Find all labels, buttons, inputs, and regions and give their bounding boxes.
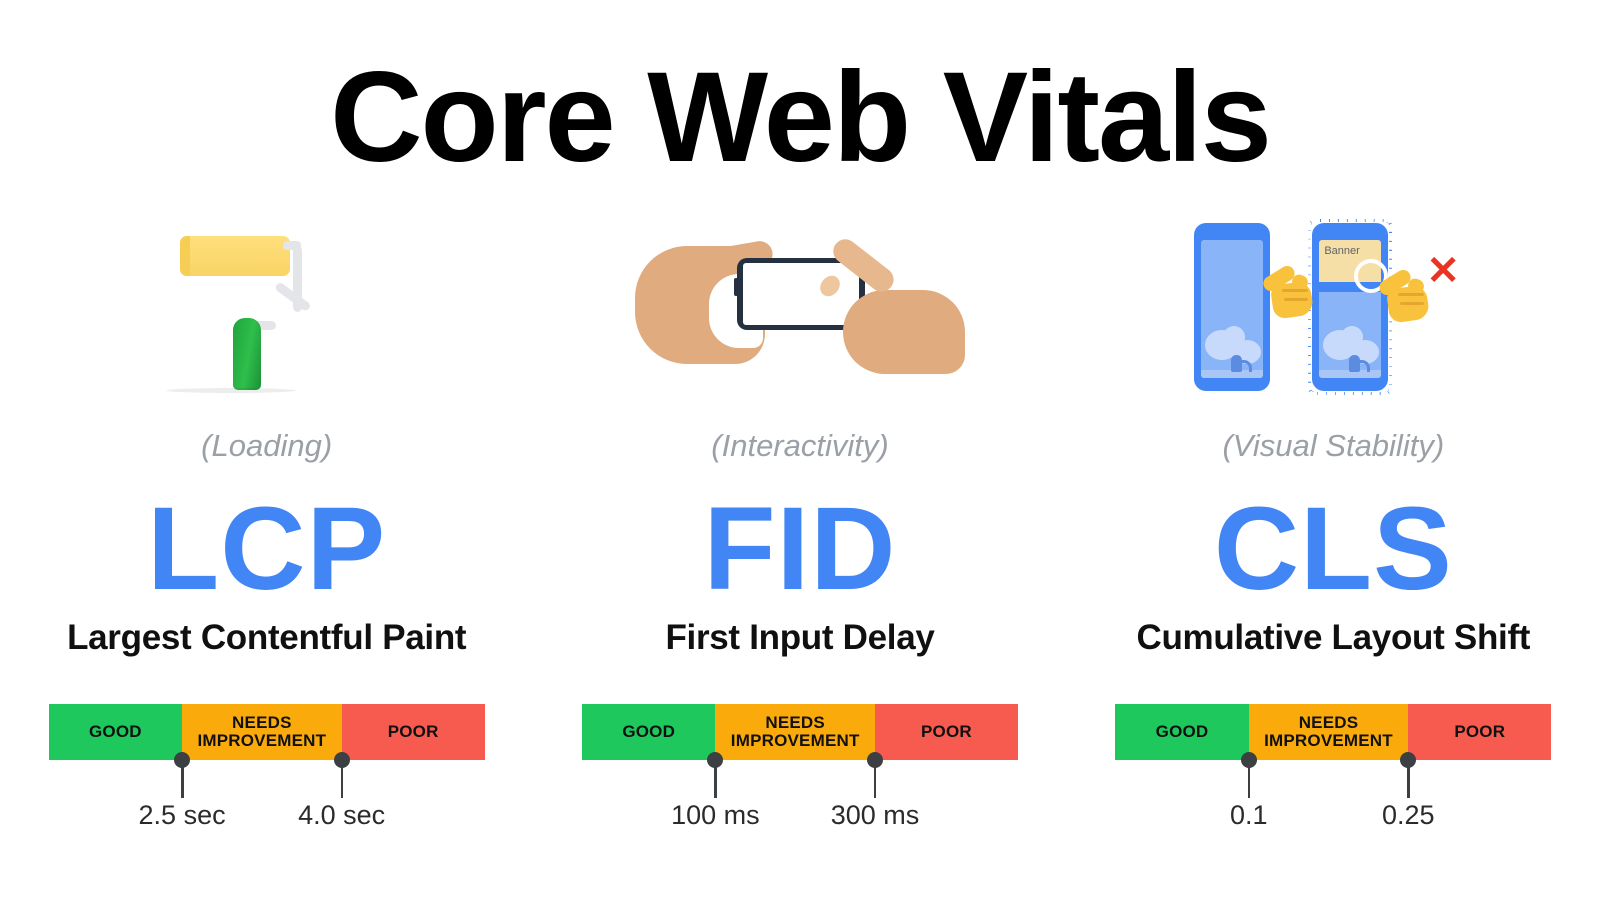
marker-stem <box>341 760 344 798</box>
banner-label: Banner <box>1319 240 1359 257</box>
roller-head <box>180 236 290 276</box>
metric-category-label: (Interactivity) <box>711 428 888 464</box>
paint-roller-icon <box>162 218 372 398</box>
segment-poor: POOR <box>875 704 1018 760</box>
phone-after: Banner <box>1312 223 1388 391</box>
segment-needs-improvement: NEEDS IMPROVEMENT <box>715 704 875 760</box>
phone-before <box>1194 223 1270 391</box>
segment-needs-improvement: NEEDS IMPROVEMENT <box>182 704 342 760</box>
lcp-threshold-scale: GOOD NEEDS IMPROVEMENT POOR 2.5 sec 4.0 … <box>49 704 485 760</box>
cls-illustration: Banner <box>1067 205 1600 410</box>
scale-bar: GOOD NEEDS IMPROVEMENT POOR <box>49 704 485 760</box>
scale-bar: GOOD NEEDS IMPROVEMENT POOR <box>582 704 1018 760</box>
error-cross-icon: ✕ <box>1426 251 1460 291</box>
metric-acronym: FID <box>703 488 896 612</box>
threshold-label: 0.1 <box>1230 800 1268 831</box>
marker-stem <box>1407 760 1410 798</box>
fid-threshold-scale: GOOD NEEDS IMPROVEMENT POOR 100 ms 300 m… <box>582 704 1018 760</box>
hand-knuckle-line-1 <box>1282 289 1308 292</box>
metrics-columns: (Loading) LCP Largest Contentful Paint G… <box>0 205 1600 760</box>
metric-acronym: LCP <box>147 488 386 612</box>
infographic-page: Core Web Vitals (Loading) LCP Largest Co… <box>0 0 1600 919</box>
fid-illustration <box>533 205 1066 410</box>
phone-screen <box>743 263 859 325</box>
threshold-label: 2.5 sec <box>139 800 226 831</box>
scale-bar: GOOD NEEDS IMPROVEMENT POOR <box>1115 704 1551 760</box>
segment-good: GOOD <box>49 704 182 760</box>
threshold-label: 0.25 <box>1382 800 1435 831</box>
marker-stem <box>1248 760 1251 798</box>
roller-head-cap <box>180 236 190 276</box>
cls-threshold-scale: GOOD NEEDS IMPROVEMENT POOR 0.1 0.25 <box>1115 704 1551 760</box>
hand-knuckle-line-2 <box>1284 298 1308 301</box>
segment-good: GOOD <box>1115 704 1248 760</box>
metric-category-label: (Visual Stability) <box>1222 428 1444 464</box>
shifted-content <box>1319 292 1381 378</box>
hand-knuckle-line-1 <box>1398 293 1424 296</box>
pointing-hand-icon-2 <box>1378 271 1432 323</box>
metric-category-label: (Loading) <box>201 428 332 464</box>
metric-full-name: Largest Contentful Paint <box>67 618 466 658</box>
hand-knuckle-line-2 <box>1400 302 1424 305</box>
roller-shadow <box>166 388 296 393</box>
metric-column-cls: Banner <box>1067 205 1600 760</box>
hand-tapping-phone-icon <box>635 228 965 388</box>
phone-before-screen <box>1201 240 1263 378</box>
threshold-label: 300 ms <box>831 800 920 831</box>
threshold-label: 100 ms <box>671 800 760 831</box>
threshold-label: 4.0 sec <box>298 800 385 831</box>
metric-column-lcp: (Loading) LCP Largest Contentful Paint G… <box>0 205 533 760</box>
layout-shift-phones-icon: Banner <box>1188 215 1478 400</box>
segment-good: GOOD <box>582 704 715 760</box>
phone-side-button <box>734 278 739 296</box>
right-hand <box>843 290 965 374</box>
metric-full-name: Cumulative Layout Shift <box>1136 618 1530 658</box>
page-title: Core Web Vitals <box>0 44 1600 191</box>
segment-poor: POOR <box>342 704 485 760</box>
metric-acronym: CLS <box>1214 488 1453 612</box>
metric-column-fid: (Interactivity) FID First Input Delay GO… <box>533 205 1066 760</box>
marker-stem <box>874 760 877 798</box>
marker-stem <box>181 760 184 798</box>
metric-full-name: First Input Delay <box>665 618 934 658</box>
roller-grip-handle <box>233 318 261 390</box>
lcp-illustration <box>0 205 533 410</box>
pointing-hand-icon-1 <box>1262 267 1316 319</box>
segment-needs-improvement: NEEDS IMPROVEMENT <box>1249 704 1409 760</box>
segment-poor: POOR <box>1408 704 1551 760</box>
marker-stem <box>714 760 717 798</box>
